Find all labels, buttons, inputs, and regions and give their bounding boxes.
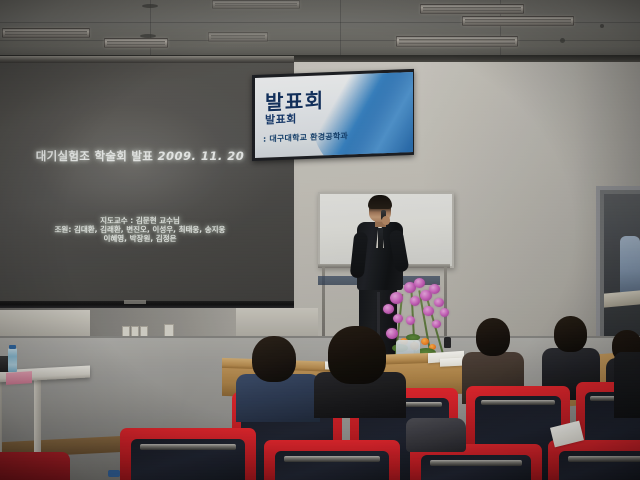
small-dark-object [444,337,451,348]
foreground-seat-edge [0,452,70,480]
water-bottle [8,348,17,372]
audience-head [252,336,296,382]
orchid-bloom [440,308,449,317]
seat-trim-bar [481,400,555,405]
ceiling-sensor-icon [600,24,604,28]
banner-subtitle: 발표회 [265,110,297,127]
slide-members-line-1: 조원: 김대환, 김래환, 변진오, 이성우, 최태웅, 송지웅 [14,225,266,234]
orchid-bloom [429,284,440,294]
presenter-hair [368,195,392,209]
ceiling-light-icon [2,28,90,38]
orchid-bloom [434,298,444,307]
slide-members-line-2: 이혜영, 박장원, 김정은 [14,234,266,243]
slide-title-text: 대기실험조 학술회 발표 [36,149,153,163]
audience-head [328,326,386,384]
audience-head [554,316,587,352]
theater-seat [120,428,256,480]
presenter-hand [382,216,390,225]
seat-trim-bar [430,460,522,466]
slide-title-date: 2009. 11. 20 [157,149,244,163]
ceiling-light-icon [212,0,300,9]
orchid-bloom [393,314,403,323]
seat-trim-bar [284,456,380,462]
slide-advisor-line: 지도교수 : 김문현 교수님 [14,216,266,225]
small-blue-object [108,470,120,477]
audience-member [314,326,406,412]
audience-head [476,318,510,356]
screen-pull-tab [124,300,146,304]
orchid-bloom [410,296,420,306]
slide-subtext: 지도교수 : 김문현 교수님 조원: 김대환, 김래환, 변진오, 이성우, 최… [14,216,266,243]
orchid-bloom [423,306,434,316]
ceiling-light-icon [462,16,574,26]
ceiling-vent-icon [142,4,158,8]
orchid-bloom [432,320,441,328]
ceiling-sensor-icon [560,38,565,43]
ceiling-vent-icon [140,34,156,38]
screen-roller-bar [0,56,294,63]
theater-seat [548,440,640,480]
screen-weight-bar [0,301,294,308]
slide-title: 대기실험조 학술회 발표 2009. 11. 20 [20,148,260,164]
theater-seat [264,440,400,480]
bottle-cap-icon [9,345,16,349]
event-banner: 발표회 발표회 : 대구대학교 환경공학과 [255,72,413,158]
ceiling-light-icon [396,36,518,47]
accent-flower [421,338,429,345]
seat-trim-bar [140,444,236,450]
pink-handout [6,371,32,385]
projector-glow [0,63,294,301]
foreground-person [614,352,640,418]
auditorium-photo: 대기실험조 학술회 발표 2009. 11. 20 지도교수 : 김문현 교수님… [0,0,640,480]
ceiling [0,0,640,62]
seat-trim-bar [568,456,640,462]
wall-lower-panel [0,310,90,339]
orchid-bloom [414,278,425,288]
bag-on-seat [406,418,466,452]
ceiling-light-icon [104,38,168,48]
presenter-tie [378,228,383,250]
orchid-bloom [383,304,394,314]
projection-screen [0,56,294,308]
seat-backrest [421,455,531,480]
orchid-bloom [406,316,415,325]
ceiling-light-icon [420,4,524,14]
wall-lower-panel [236,308,318,339]
orchid-bloom [390,292,403,304]
person-in-doorway [620,236,640,292]
ceiling-light-icon [208,32,268,42]
audience-member [236,336,320,412]
